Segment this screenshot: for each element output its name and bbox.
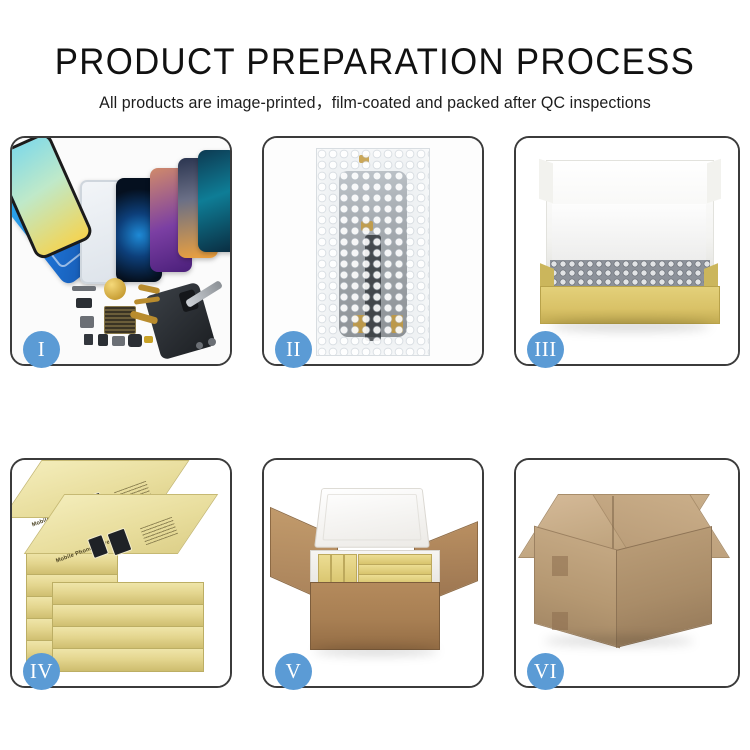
flex-cable-part (138, 284, 161, 294)
spare-part (72, 286, 96, 291)
white-foam-sheet (552, 204, 706, 264)
spare-part (196, 342, 203, 349)
spare-part (84, 334, 93, 345)
bubble-texture (317, 149, 429, 355)
process-step-5[interactable]: V (262, 458, 484, 688)
step-1-image (12, 138, 230, 364)
bubble-wrap-bag (316, 148, 430, 356)
yellow-box-front (540, 286, 720, 324)
carton-tape-patch (552, 612, 568, 630)
step-badge-5: V (275, 653, 312, 690)
page-subtitle: All products are image-printed，film-coat… (11, 84, 739, 114)
drop-shadow (544, 636, 694, 646)
page-title: PRODUCT PREPARATION PROCESS (23, 0, 728, 84)
carton-body (310, 582, 440, 650)
spare-part (144, 336, 153, 343)
step-5-image (264, 460, 482, 686)
foam-lid-open (314, 488, 430, 548)
step-badge-6: VI (527, 653, 564, 690)
process-step-2[interactable]: II (262, 136, 484, 366)
process-step-1[interactable]: I (10, 136, 232, 366)
drop-shadow (314, 646, 438, 656)
vibration-motor-part (104, 278, 126, 300)
process-step-3[interactable]: III (514, 136, 740, 366)
step-3-image (516, 138, 738, 364)
step-badge-1: I (23, 331, 60, 368)
carton-top-seam (612, 496, 614, 556)
step-2-image (264, 138, 482, 364)
spare-part (128, 334, 142, 347)
step-4-image: Mobile Phone Spare Parts Mobile Phone Sp… (12, 460, 230, 686)
step-badge-4: IV (23, 653, 60, 690)
drop-shadow (550, 320, 710, 332)
spare-part (76, 298, 92, 308)
page-header: PRODUCT PREPARATION PROCESS All products… (0, 0, 750, 114)
process-step-grid: I II (10, 136, 742, 736)
spare-part (80, 316, 94, 328)
step-badge-3: III (527, 331, 564, 368)
step-6-image (516, 460, 738, 686)
spare-part (98, 334, 108, 346)
carton-tape-patch (552, 556, 568, 576)
process-step-4[interactable]: Mobile Phone Spare Parts Mobile Phone Sp… (10, 458, 232, 688)
process-step-6[interactable]: VI (514, 458, 740, 688)
phone-display-teal (198, 150, 230, 252)
spare-part (208, 338, 216, 346)
step-badge-2: II (275, 331, 312, 368)
spare-part (112, 336, 125, 346)
